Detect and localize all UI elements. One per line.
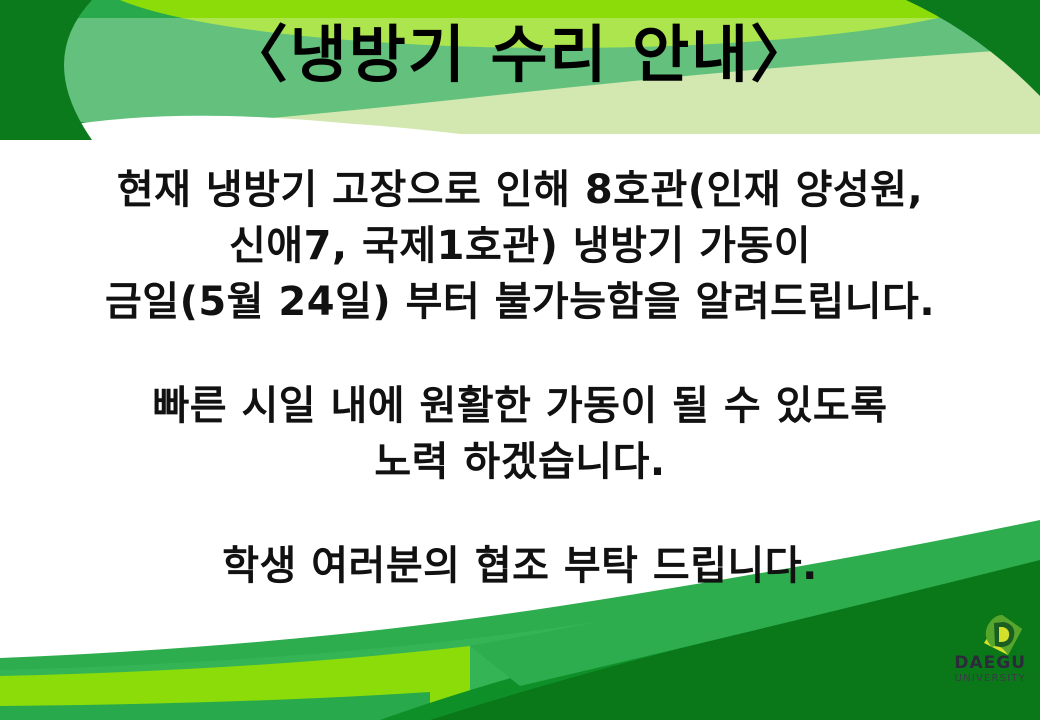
paragraph-notice: 현재 냉방기 고장으로 인해 8호관(인재 양성원, 신애7, 국제1호관) 냉… [0,162,1040,330]
notice-line: 학생 여러분의 협조 부탁 드립니다. [0,538,1040,594]
notice-line: 노력 하겠습니다. [0,434,1040,490]
notice-line: 현재 냉방기 고장으로 인해 8호관(인재 양성원, [0,162,1040,218]
daegu-leaf-emblem-icon [978,613,1024,657]
notice-poster: 〈냉방기 수리 안내〉 현재 냉방기 고장으로 인해 8호관(인재 양성원, 신… [0,0,1040,720]
notice-line: 빠른 시일 내에 원활한 가동이 될 수 있도록 [0,378,1040,434]
page-title: 〈냉방기 수리 안내〉 [226,22,814,87]
notice-line: 금일(5월 24일) 부터 불가능함을 알려드립니다. [0,274,1040,330]
paragraph-request: 학생 여러분의 협조 부탁 드립니다. [0,538,1040,594]
notice-body: 현재 냉방기 고장으로 인해 8호관(인재 양성원, 신애7, 국제1호관) 냉… [0,162,1040,594]
page-title-container: 〈냉방기 수리 안내〉 [0,22,1040,87]
university-logo: DAEGU UNIVERSITY [954,613,1026,684]
logo-name: DAEGU [954,655,1026,672]
logo-subtitle: UNIVERSITY [955,674,1026,684]
notice-line: 신애7, 국제1호관) 냉방기 가동이 [0,218,1040,274]
paragraph-apology: 빠른 시일 내에 원활한 가동이 될 수 있도록 노력 하겠습니다. [0,378,1040,490]
